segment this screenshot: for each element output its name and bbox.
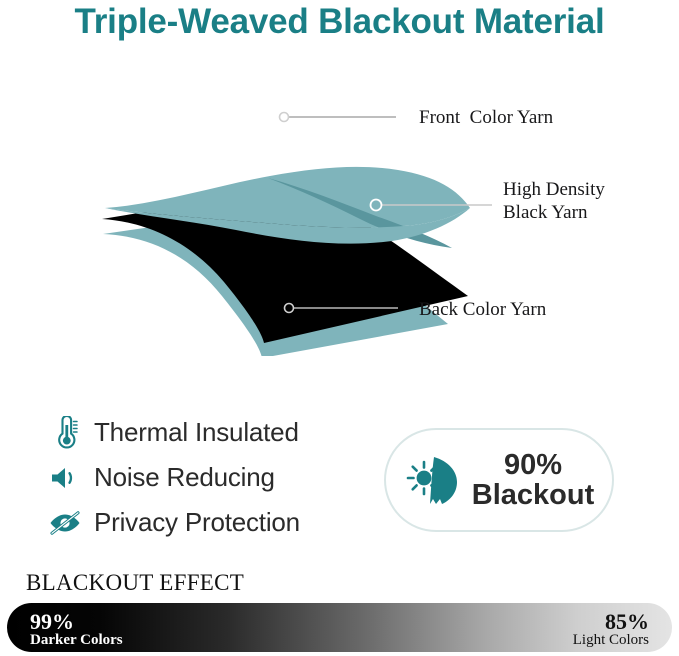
badge-text: 90% Blackout [472, 450, 594, 510]
feature-label-noise: Noise Reducing [94, 462, 275, 493]
bar-percent-darker: 99% [30, 610, 123, 633]
badge-word: Blackout [472, 480, 594, 510]
badge-percent: 90% [472, 450, 594, 480]
feature-label-thermal: Thermal Insulated [94, 417, 299, 448]
label-black-line1: High Density [503, 179, 605, 200]
feature-row-privacy: Privacy Protection [47, 500, 367, 545]
thermometer-icon [47, 415, 83, 451]
blackout-percentage-badge: 90% Blackout [384, 428, 614, 532]
label-black-line2: Black Yarn [503, 202, 587, 223]
feature-row-thermal: Thermal Insulated [47, 410, 367, 455]
feature-row-noise: Noise Reducing [47, 455, 367, 500]
front-marker-dot [280, 113, 289, 122]
label-front-color-yarn: Front Color Yarn [419, 106, 553, 129]
blackout-effect-heading: BLACKOUT EFFECT [26, 570, 244, 596]
bar-stat-darker: 99% Darker Colors [30, 610, 123, 649]
sun-blocked-by-curtain-icon [404, 449, 466, 511]
feature-list: Thermal Insulated Noise Reducing Privacy… [47, 410, 367, 545]
bar-sublabel-darker: Darker Colors [30, 633, 123, 649]
feature-label-privacy: Privacy Protection [94, 507, 300, 538]
leader-front-color-yarn [280, 113, 397, 122]
bar-percent-light: 85% [573, 610, 649, 633]
eye-slash-icon [47, 505, 83, 541]
label-back-color-yarn: Back Color Yarn [419, 298, 546, 321]
speaker-sound-icon [47, 460, 83, 496]
bar-sublabel-light: Light Colors [573, 633, 649, 649]
label-high-density-black-yarn: High DensityBlack Yarn [503, 178, 605, 224]
page-title: Triple-Weaved Blackout Material [0, 2, 679, 42]
bar-stat-light: 85% Light Colors [573, 610, 649, 649]
blackout-effect-gradient-bar: 99% Darker Colors 85% Light Colors [7, 603, 672, 652]
fabric-layers-diagram: Front Color Yarn High DensityBlack Yarn … [0, 86, 679, 356]
